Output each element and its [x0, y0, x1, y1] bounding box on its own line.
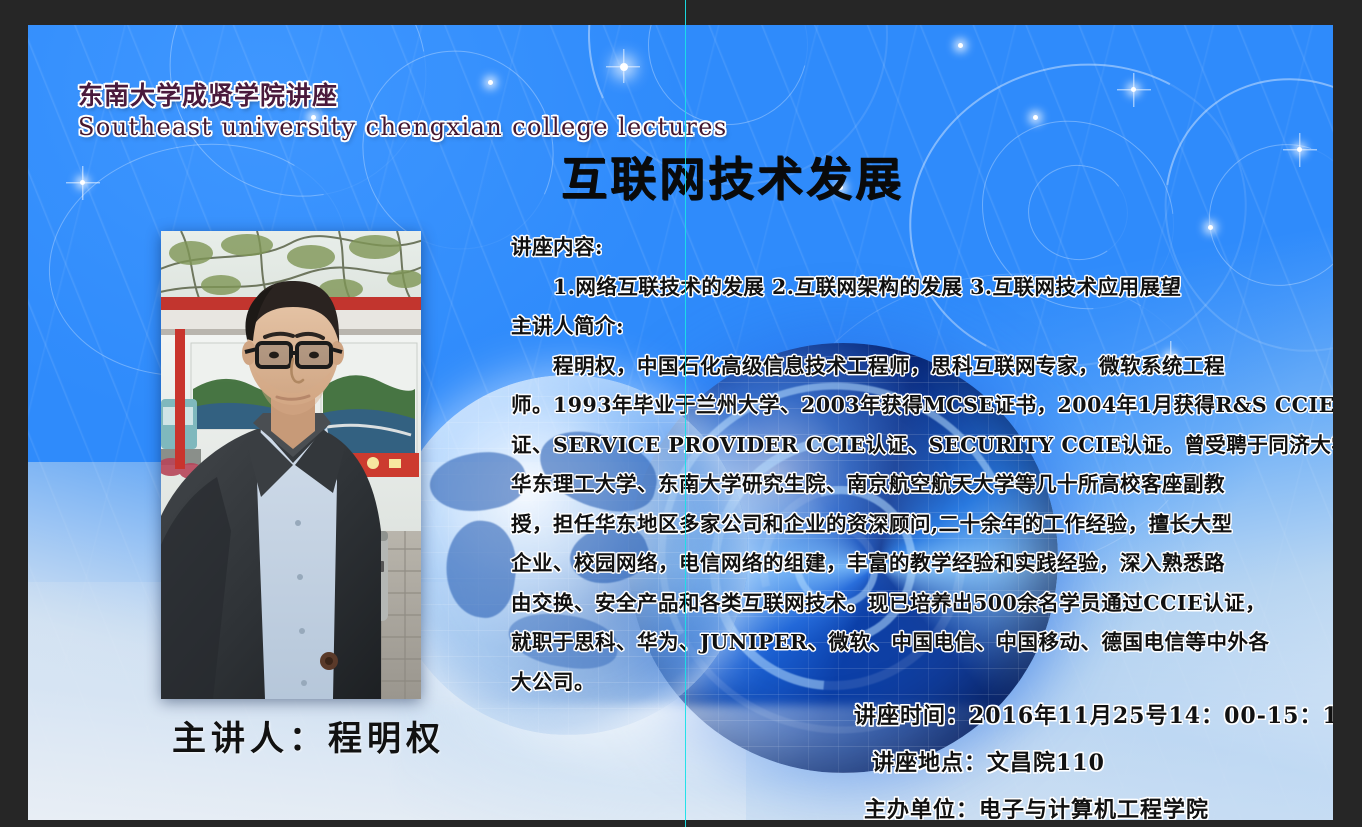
- poster-header: 东南大学成贤学院讲座 Southeast university chengxia…: [78, 80, 728, 141]
- lecture-content-block: 讲座内容: 1.网络互联技术的发展 2.互联网架构的发展 3.互联网技术应用展望…: [511, 237, 1331, 692]
- speaker-name-line: 主讲人：程明权: [172, 711, 445, 760]
- header-title-en: Southeast university chengxian college l…: [78, 113, 728, 141]
- sparkle-icon: [1208, 225, 1213, 230]
- speaker-photo: [161, 231, 421, 699]
- speaker-bio-label: 主讲人简介:: [511, 316, 1331, 337]
- sparkle-icon: [620, 63, 628, 71]
- bio-line: 程明权，中国石化高级信息技术工程师，思科互联网专家，微软系统工程: [511, 356, 1331, 377]
- bio-line: 企业、校园网络，电信网络的组建，丰富的教学经验和实践经验，深入熟悉路: [511, 553, 1331, 574]
- page-title: 互联网技术发展: [561, 143, 904, 209]
- lecture-info-block: 讲座时间：2016年11月25号14：00-15：10 讲座地点：文昌院110 …: [854, 698, 1333, 820]
- bio-line: 由交换、安全产品和各类互联网技术。现已培养出500余名学员通过CCIE认证，: [511, 593, 1331, 614]
- desktop-background: 东南大学成贤学院讲座 Southeast university chengxia…: [0, 0, 1362, 827]
- bio-line: 师。1993年毕业于兰州大学、2003年获得MCSE证书，2004年1月获得R&…: [511, 395, 1331, 416]
- lecture-poster: 东南大学成贤学院讲座 Southeast university chengxia…: [28, 25, 1333, 820]
- sparkle-icon: [1033, 115, 1038, 120]
- bio-line: 华东理工大学、东南大学研究生院、南京航空航天大学等几十所高校客座副教: [511, 474, 1331, 495]
- sparkle-icon: [958, 43, 963, 48]
- bio-line: 大公司。: [511, 672, 1331, 693]
- speaker-photo-image: [161, 231, 421, 699]
- header-title-cn: 东南大学成贤学院讲座: [78, 80, 728, 111]
- bio-line: 证、SERVICE PROVIDER CCIE认证、SECURITY CCIE认…: [511, 435, 1331, 456]
- sparkle-icon: [1131, 87, 1136, 92]
- bio-line: 授，担任华东地区多家公司和企业的资深顾问,二十余年的工作经验，擅长大型: [511, 514, 1331, 535]
- bio-line: 就职于思科、华为、JUNIPER、微软、中国电信、中国移动、德国电信等中外各: [511, 632, 1331, 653]
- topics-line: 1.网络互联技术的发展 2.互联网架构的发展 3.互联网技术应用展望: [511, 277, 1331, 298]
- lecture-time: 讲座时间：2016年11月25号14：00-15：10: [854, 698, 1333, 730]
- sparkle-icon: [1297, 147, 1302, 152]
- lecture-place: 讲座地点：文昌院110: [872, 745, 1333, 777]
- sparkle-icon: [80, 180, 85, 185]
- content-label: 讲座内容:: [511, 237, 1331, 258]
- lecture-organizer: 主办单位：电子与计算机工程学院: [864, 792, 1333, 820]
- vertical-guide-line: [685, 0, 686, 827]
